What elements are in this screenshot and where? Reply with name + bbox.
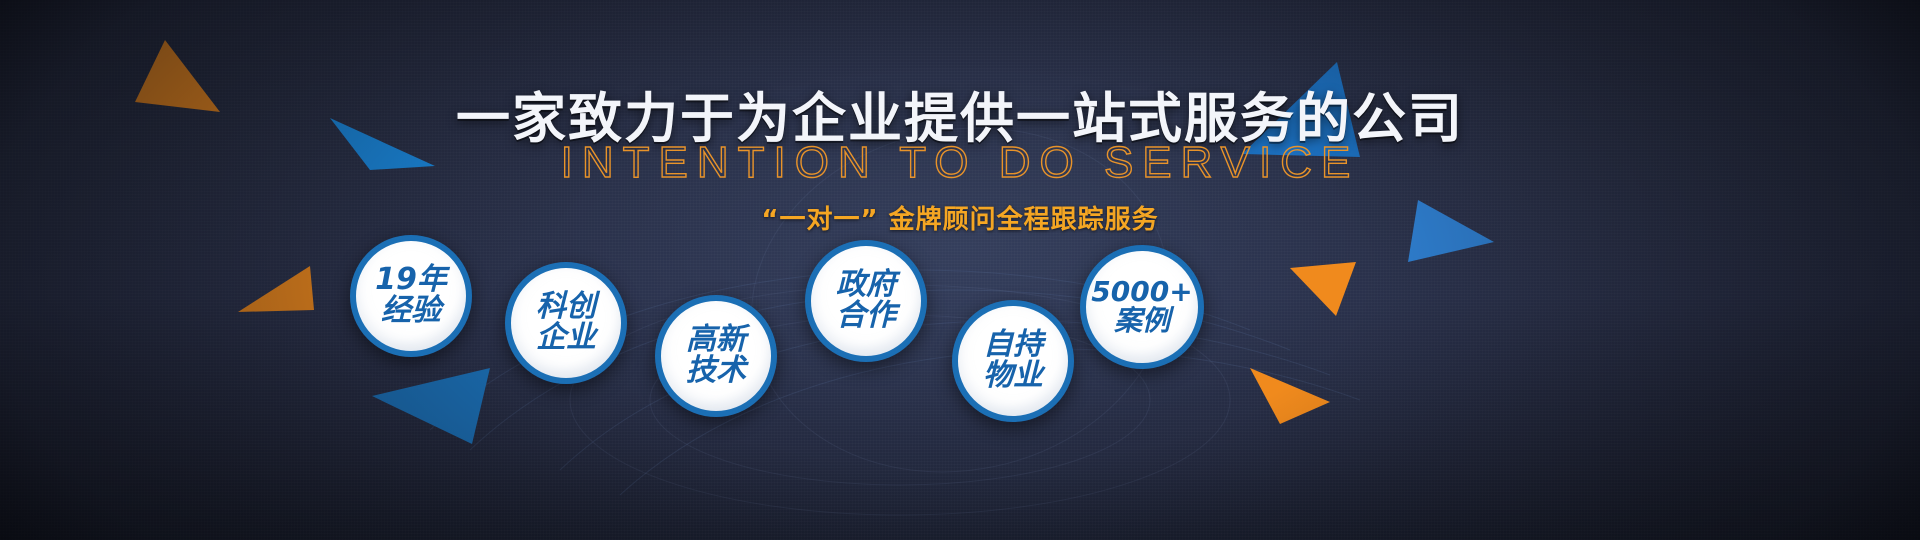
bubble-line-1: 19年 (375, 265, 447, 296)
promo-banner: 一家致力于为企业提供一站式服务的公司 INTENTION TO DO SERVI… (0, 0, 1920, 540)
bubble-line-2: 经验 (381, 296, 441, 327)
bubble-line-1: 高新 (686, 325, 746, 356)
bubble-line-1: 政府 (836, 270, 896, 301)
bubble-line-2: 企业 (536, 323, 596, 354)
bubble-line-1: 自持 (983, 330, 1043, 361)
feature-bubble-cases[interactable]: 5000+ 案例 (1080, 245, 1204, 369)
feature-bubble-tech-startup[interactable]: 科创 企业 (505, 262, 627, 384)
bubble-line-1: 5000+ (1091, 278, 1192, 307)
feature-bubble-experience[interactable]: 19年 经验 (350, 235, 472, 357)
feature-bubble-property[interactable]: 自持 物业 (952, 300, 1074, 422)
feature-bubble-high-tech[interactable]: 高新 技术 (655, 295, 777, 417)
bubble-line-1: 科创 (536, 292, 596, 323)
bubble-line-2: 技术 (686, 356, 746, 387)
feature-bubble-group: 19年 经验 科创 企业 高新 技术 政府 合作 自持 物业 5000+ 案例 (0, 0, 1920, 540)
bubble-line-2: 案例 (1114, 307, 1170, 336)
bubble-line-2: 合作 (836, 301, 896, 332)
feature-bubble-government[interactable]: 政府 合作 (805, 240, 927, 362)
bubble-line-2: 物业 (983, 361, 1043, 392)
